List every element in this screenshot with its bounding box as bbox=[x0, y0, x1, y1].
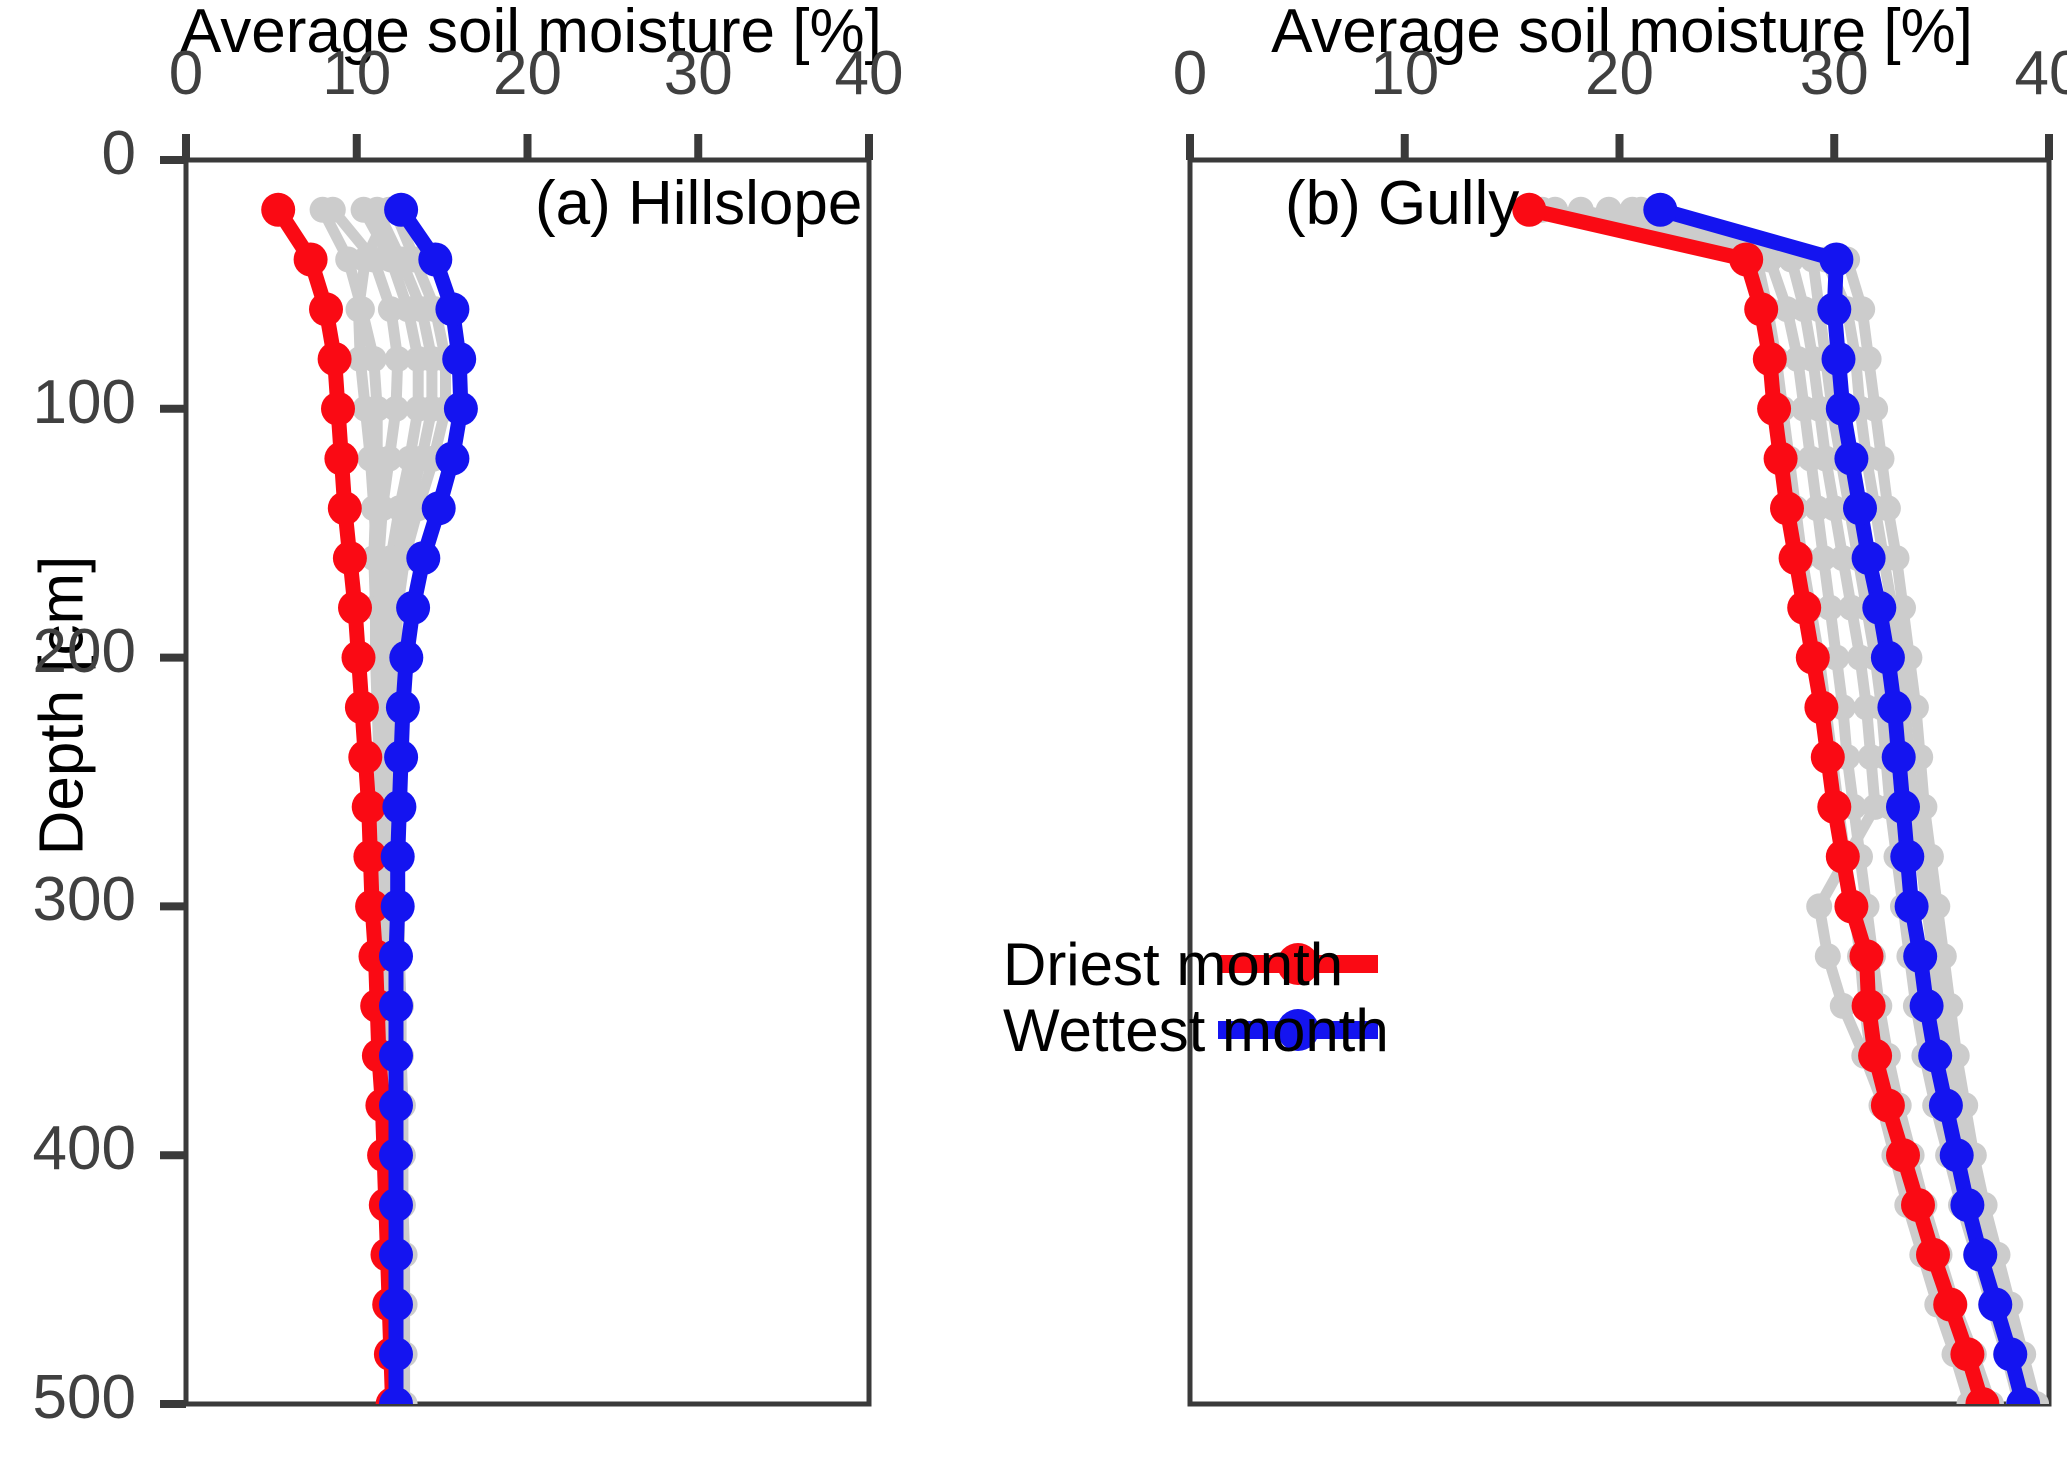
series-marker bbox=[382, 790, 416, 824]
series-marker bbox=[386, 690, 420, 724]
series-marker bbox=[379, 1337, 413, 1371]
soil-moisture-figure: Average soil moisture [%] Average soil m… bbox=[0, 0, 2067, 1466]
series-marker bbox=[379, 939, 413, 973]
series-marker bbox=[1779, 541, 1813, 575]
legend-swatch-marker bbox=[1277, 1009, 1319, 1051]
series-marker bbox=[1815, 943, 1841, 969]
series-marker bbox=[1993, 1337, 2027, 1371]
series-marker bbox=[406, 541, 440, 575]
series-marker bbox=[1806, 893, 1832, 919]
series-marker bbox=[1834, 889, 1868, 923]
series-marker bbox=[1901, 1188, 1935, 1222]
series-marker bbox=[1764, 442, 1798, 476]
series-marker bbox=[346, 296, 372, 322]
series-marker bbox=[1884, 545, 1910, 571]
series-marker bbox=[309, 292, 343, 326]
series-marker bbox=[1886, 1138, 1920, 1172]
series-marker bbox=[1512, 193, 1546, 227]
series-marker bbox=[1869, 446, 1895, 472]
series-marker bbox=[1916, 1238, 1950, 1272]
series-marker bbox=[294, 243, 328, 277]
series-marker bbox=[1895, 889, 1929, 923]
series-marker bbox=[318, 342, 352, 376]
series-marker bbox=[1817, 292, 1851, 326]
series-marker bbox=[1940, 1138, 1974, 1172]
series-marker bbox=[1843, 491, 1877, 525]
series-marker bbox=[1890, 840, 1924, 874]
series-marker bbox=[1963, 1238, 1997, 1272]
series-marker bbox=[1826, 840, 1860, 874]
series-marker bbox=[1753, 342, 1787, 376]
series-marker bbox=[1826, 392, 1860, 426]
series-marker bbox=[384, 740, 418, 774]
series-marker bbox=[320, 197, 346, 223]
series-marker bbox=[383, 396, 409, 422]
series-marker bbox=[1852, 989, 1886, 1023]
series-marker bbox=[1819, 243, 1853, 277]
series-marker bbox=[389, 641, 423, 675]
series-marker bbox=[1822, 342, 1856, 376]
series-marker bbox=[422, 491, 456, 525]
series-marker bbox=[1852, 541, 1886, 575]
series-marker bbox=[364, 545, 390, 571]
series-marker bbox=[345, 690, 379, 724]
series-marker bbox=[1950, 1337, 1984, 1371]
series-marker bbox=[1871, 641, 1905, 675]
series-marker bbox=[1787, 591, 1821, 625]
series-marker bbox=[1729, 243, 1763, 277]
series-marker bbox=[1882, 740, 1916, 774]
figure-background bbox=[0, 0, 2067, 1466]
series-marker bbox=[379, 1188, 413, 1222]
series-marker bbox=[333, 541, 367, 575]
series-marker bbox=[1796, 641, 1830, 675]
series-marker bbox=[379, 989, 413, 1023]
series-marker bbox=[1929, 1088, 1963, 1122]
series-marker bbox=[1886, 790, 1920, 824]
series-marker bbox=[1850, 939, 1884, 973]
series-marker bbox=[1871, 1088, 1905, 1122]
series-marker bbox=[1643, 193, 1677, 227]
series-marker bbox=[1950, 1188, 1984, 1222]
series-marker bbox=[379, 1288, 413, 1322]
series-marker bbox=[328, 491, 362, 525]
series-marker bbox=[1862, 396, 1888, 422]
series-marker bbox=[1877, 690, 1911, 724]
series-marker bbox=[348, 740, 382, 774]
series-marker bbox=[324, 442, 358, 476]
series-marker bbox=[352, 247, 378, 273]
series-marker bbox=[357, 446, 383, 472]
series-marker bbox=[1834, 442, 1868, 476]
series-marker bbox=[396, 591, 430, 625]
legend-swatch-marker bbox=[1277, 943, 1319, 985]
series-marker bbox=[1744, 292, 1778, 326]
series-marker bbox=[379, 1238, 413, 1272]
chart-svg bbox=[0, 0, 2067, 1466]
series-marker bbox=[1804, 690, 1838, 724]
series-marker bbox=[379, 1088, 413, 1122]
series-marker bbox=[1757, 392, 1791, 426]
series-marker bbox=[321, 392, 355, 426]
series-marker bbox=[442, 342, 476, 376]
series-marker bbox=[1933, 1288, 1967, 1322]
series-marker bbox=[352, 790, 386, 824]
series-marker bbox=[381, 889, 415, 923]
series-marker bbox=[1875, 495, 1901, 521]
series-marker bbox=[1858, 1039, 1892, 1073]
series-marker bbox=[352, 396, 378, 422]
series-marker bbox=[1817, 790, 1851, 824]
series-marker bbox=[361, 495, 387, 521]
series-marker bbox=[1856, 346, 1882, 372]
series-marker bbox=[435, 442, 469, 476]
series-marker bbox=[342, 641, 376, 675]
series-marker bbox=[261, 193, 295, 227]
series-marker bbox=[1918, 1039, 1952, 1073]
series-marker bbox=[1811, 740, 1845, 774]
series-marker bbox=[1978, 1288, 2012, 1322]
series-marker bbox=[384, 193, 418, 227]
series-marker bbox=[444, 392, 478, 426]
series-marker bbox=[1849, 296, 1875, 322]
series-marker bbox=[379, 1039, 413, 1073]
series-marker bbox=[1862, 591, 1896, 625]
series-marker bbox=[435, 292, 469, 326]
series-marker bbox=[1910, 989, 1944, 1023]
series-marker bbox=[338, 591, 372, 625]
series-marker bbox=[1770, 491, 1804, 525]
series-marker bbox=[381, 840, 415, 874]
series-marker bbox=[418, 243, 452, 277]
series-marker bbox=[379, 1138, 413, 1172]
series-marker bbox=[1903, 939, 1937, 973]
